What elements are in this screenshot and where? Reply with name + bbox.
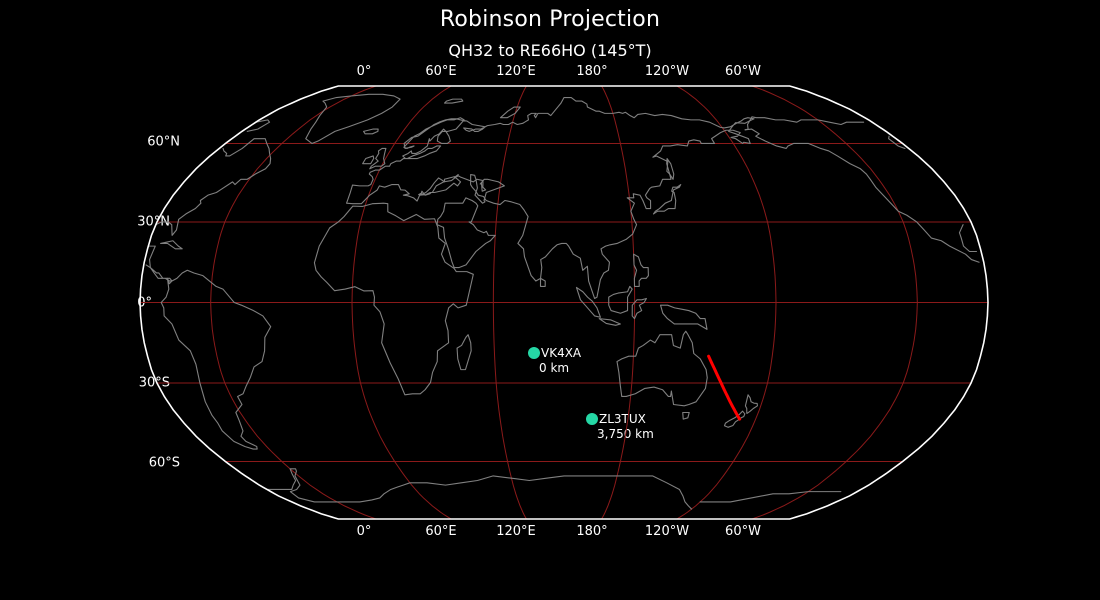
coastline-segment (540, 278, 545, 286)
graticule-layer (140, 86, 988, 519)
coastline-layer (146, 94, 979, 509)
coastline-segment (364, 129, 379, 134)
coastline-segment (617, 331, 707, 406)
coastline-segment (724, 411, 744, 427)
station-marker-vk4xa[interactable] (528, 347, 540, 359)
coastline-segment (347, 98, 755, 299)
great-circle-path (709, 356, 740, 419)
coastline-segment (437, 198, 495, 268)
coastline-segment (599, 319, 620, 326)
coastline-segment (161, 241, 183, 249)
coastline-segment (500, 107, 520, 118)
coastline-segment (306, 94, 400, 143)
coastline-segment (745, 395, 757, 413)
coastline-segment (634, 254, 649, 286)
path-line (709, 356, 740, 419)
station-marker-zl3tux[interactable] (586, 413, 598, 425)
coastline-segment (363, 156, 374, 164)
coastline-segment (683, 412, 689, 419)
coastline-segment (661, 305, 707, 329)
coastline-segment (161, 270, 271, 449)
coastline-segment (745, 117, 863, 130)
coastline-segment (653, 185, 680, 214)
coastline-segment (445, 99, 463, 103)
coastline-segment (457, 335, 471, 370)
coastline-segment (700, 492, 841, 502)
coastline-segment (370, 148, 386, 168)
coastline-segment (314, 203, 473, 395)
station-markers (528, 347, 598, 425)
coastline-segment (146, 246, 172, 281)
coastline-segment (889, 136, 905, 148)
map-figure: Robinson Projection QH32 to RE66HO (145°… (0, 0, 1100, 600)
coastline-segment (609, 286, 632, 313)
coastline-segment (745, 129, 979, 262)
robinson-map-canvas (0, 0, 1100, 600)
coastline-segment (267, 469, 692, 509)
